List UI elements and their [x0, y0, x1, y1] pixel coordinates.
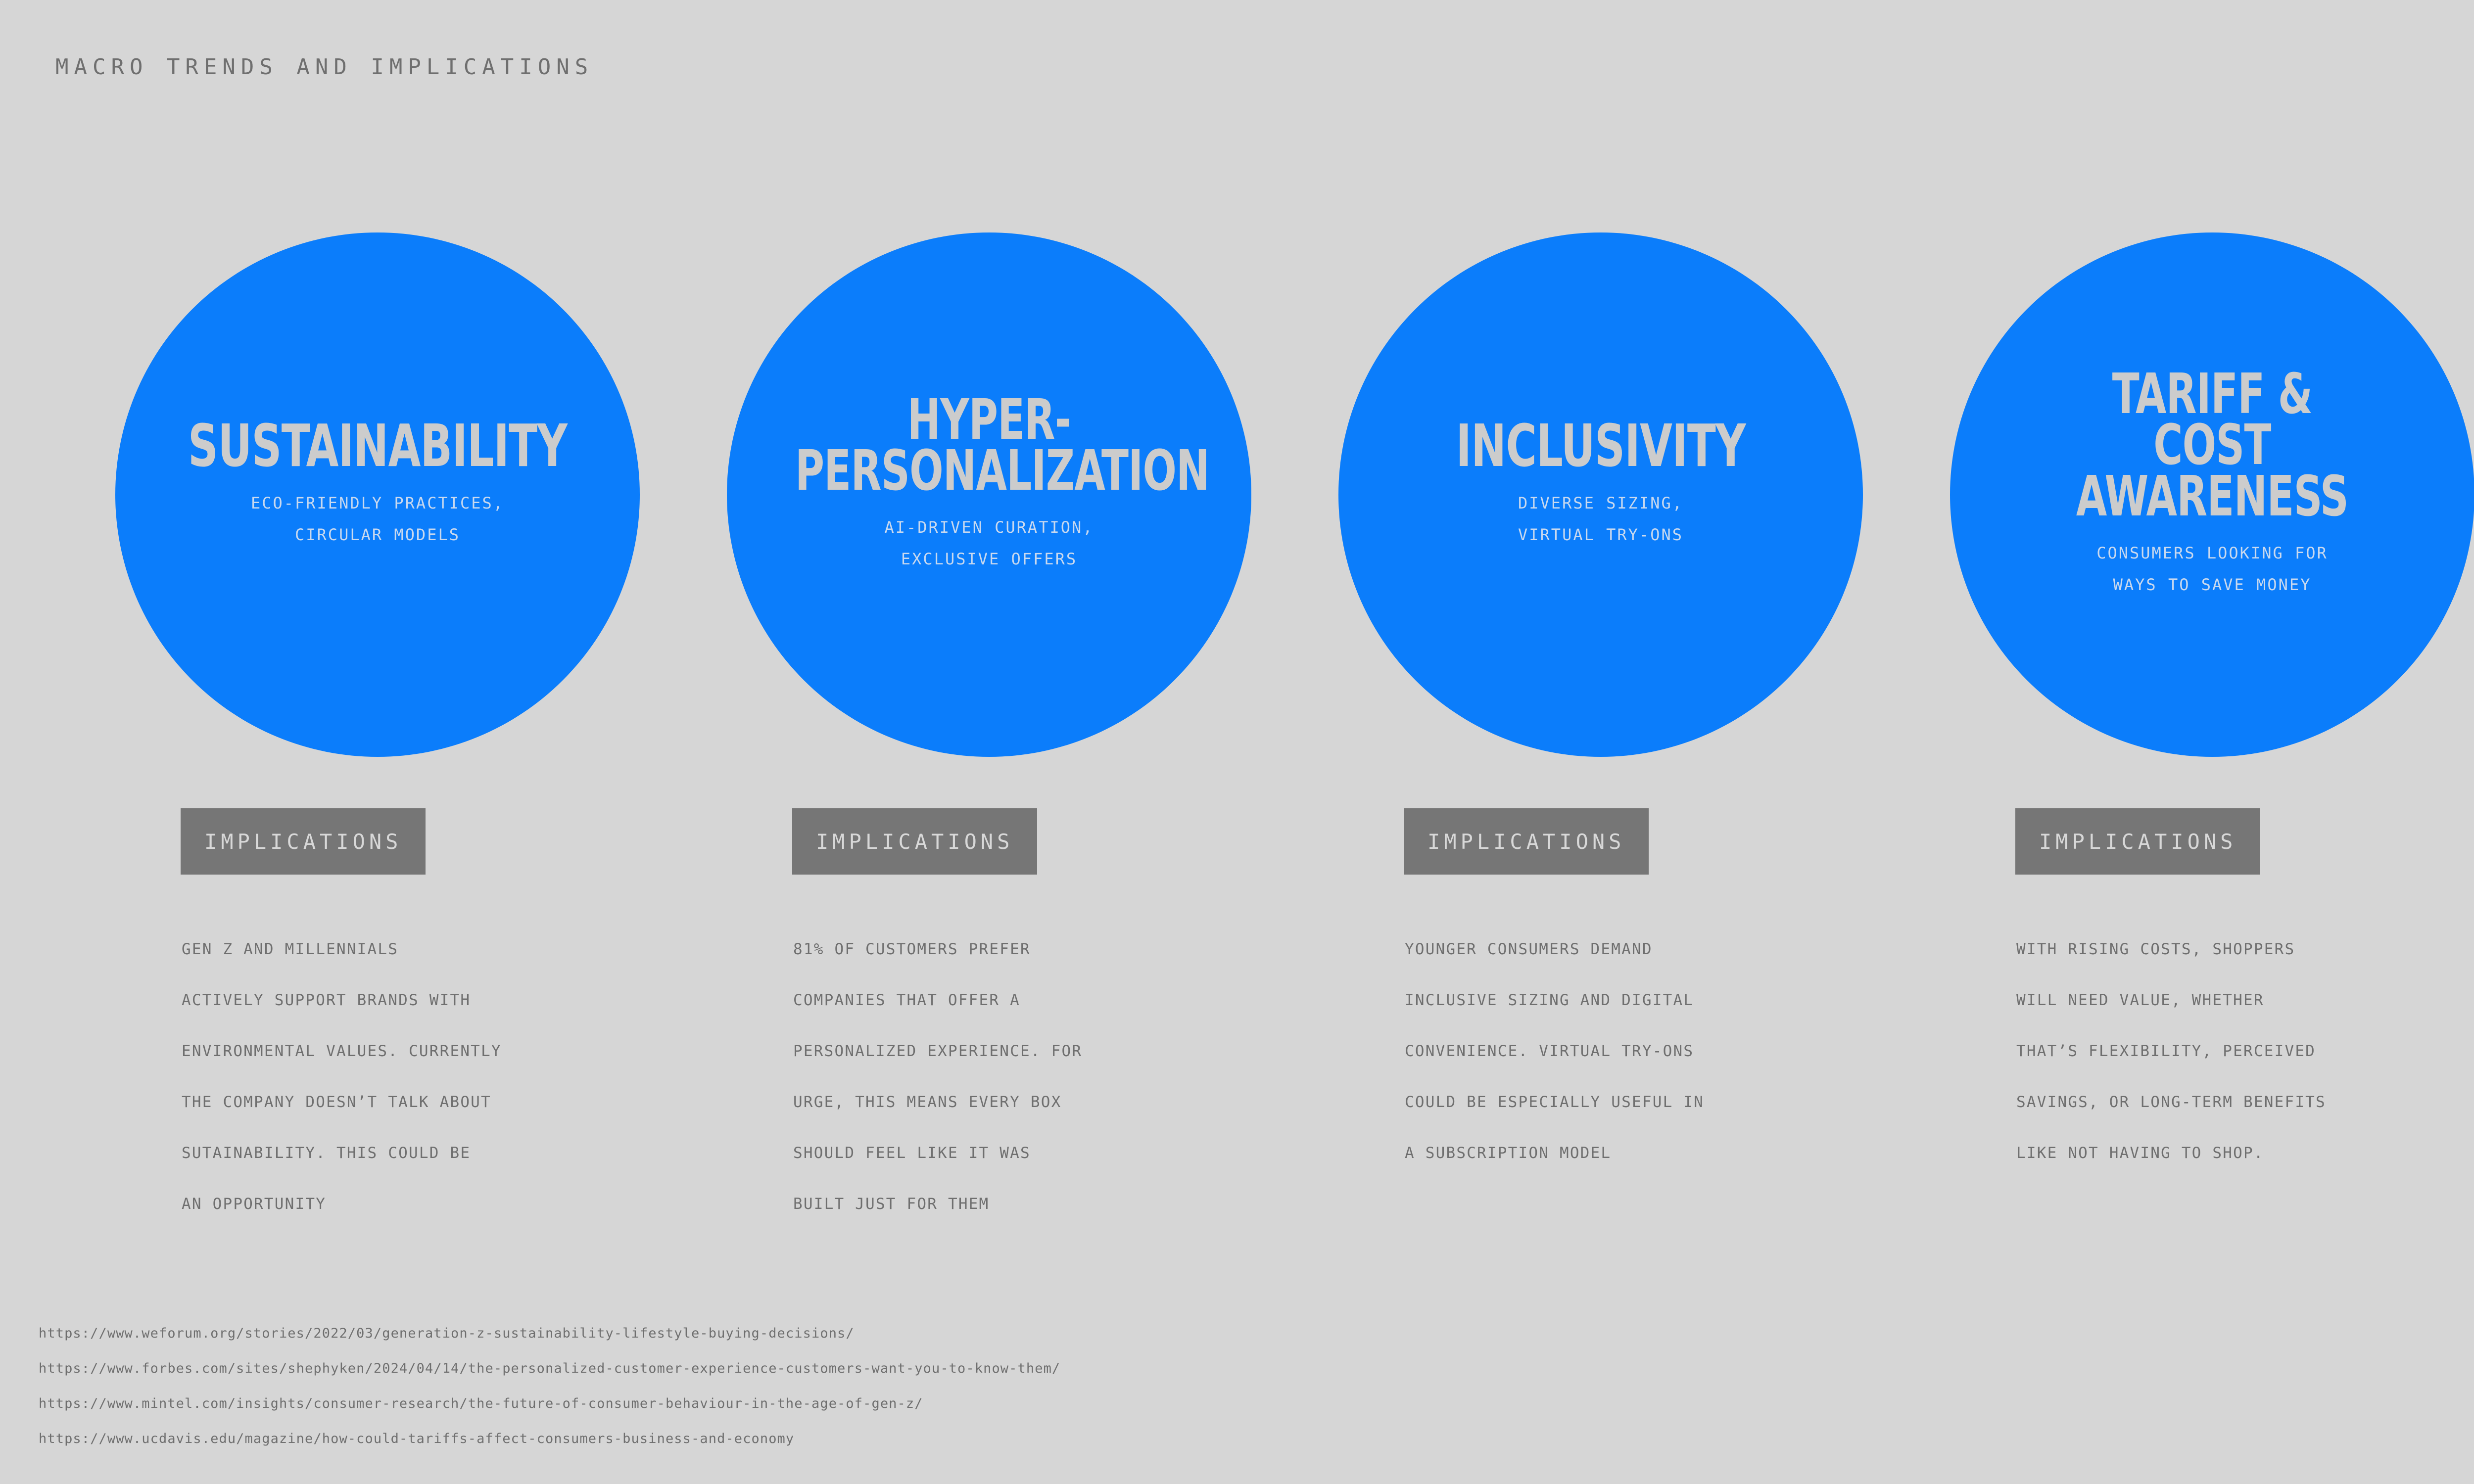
- trend-title: TARIFF & COST AWARENESS: [2018, 369, 2406, 522]
- trend-columns: SUSTAINABILITY ECO-FRIENDLY PRACTICES, C…: [0, 0, 2474, 1484]
- trend-column-tariff-cost-awareness: TARIFF & COST AWARENESS CONSUMERS LOOKIN…: [1906, 0, 2474, 1484]
- trend-column-sustainability: SUSTAINABILITY ECO-FRIENDLY PRACTICES, C…: [72, 0, 683, 1484]
- trend-subtitle: ECO-FRIENDLY PRACTICES, CIRCULAR MODELS: [135, 487, 620, 551]
- trend-circle-content: HYPER- PERSONALIZATION AI-DRIVEN CURATIO…: [747, 395, 1232, 575]
- trend-circle[interactable]: TARIFF & COST AWARENESS CONSUMERS LOOKIN…: [1950, 232, 2474, 757]
- implications-body: 81% OF CUSTOMERS PREFER COMPANIES THAT O…: [793, 924, 1332, 1230]
- source-link[interactable]: https://www.mintel.com/insights/consumer…: [39, 1386, 1060, 1421]
- implications-badge: IMPLICATIONS: [792, 808, 1037, 875]
- source-list: https://www.weforum.org/stories/2022/03/…: [39, 1316, 1060, 1456]
- implications-body: GEN Z AND MILLENNIALS ACTIVELY SUPPORT B…: [182, 924, 721, 1230]
- implications-badge-label: IMPLICATIONS: [816, 830, 1013, 854]
- implications-badge-label: IMPLICATIONS: [1427, 830, 1625, 854]
- trend-title: INCLUSIVITY: [1407, 419, 1795, 473]
- trend-circle-content: INCLUSIVITY DIVERSE SIZING, VIRTUAL TRY-…: [1358, 419, 1843, 551]
- implications-badge-label: IMPLICATIONS: [204, 830, 402, 854]
- trend-circle[interactable]: INCLUSIVITY DIVERSE SIZING, VIRTUAL TRY-…: [1338, 232, 1863, 757]
- trend-subtitle: DIVERSE SIZING, VIRTUAL TRY-ONS: [1358, 487, 1843, 551]
- trend-column-hyper-personalization: HYPER- PERSONALIZATION AI-DRIVEN CURATIO…: [683, 0, 1295, 1484]
- implications-badge: IMPLICATIONS: [2015, 808, 2260, 875]
- implications-badge: IMPLICATIONS: [1404, 808, 1649, 875]
- trend-circle[interactable]: SUSTAINABILITY ECO-FRIENDLY PRACTICES, C…: [115, 232, 640, 757]
- trend-circle[interactable]: HYPER- PERSONALIZATION AI-DRIVEN CURATIO…: [727, 232, 1251, 757]
- slide-canvas: MACRO TRENDS AND IMPLICATIONS SUSTAINABI…: [0, 0, 2474, 1484]
- source-link[interactable]: https://www.forbes.com/sites/shephyken/2…: [39, 1351, 1060, 1386]
- trend-subtitle: AI-DRIVEN CURATION, EXCLUSIVE OFFERS: [747, 511, 1232, 575]
- implications-body: YOUNGER CONSUMERS DEMAND INCLUSIVE SIZIN…: [1405, 924, 1944, 1179]
- implications-body: WITH RISING COSTS, SHOPPERS WILL NEED VA…: [2016, 924, 2474, 1179]
- trend-subtitle: CONSUMERS LOOKING FOR WAYS TO SAVE MONEY: [1970, 537, 2455, 601]
- trend-title: SUSTAINABILITY: [184, 419, 571, 473]
- trend-circle-content: TARIFF & COST AWARENESS CONSUMERS LOOKIN…: [1970, 369, 2455, 600]
- trend-title: HYPER- PERSONALIZATION: [795, 395, 1183, 497]
- source-link[interactable]: https://www.ucdavis.edu/magazine/how-cou…: [39, 1421, 1060, 1456]
- trend-column-inclusivity: INCLUSIVITY DIVERSE SIZING, VIRTUAL TRY-…: [1295, 0, 1906, 1484]
- implications-badge-label: IMPLICATIONS: [2039, 830, 2236, 854]
- source-link[interactable]: https://www.weforum.org/stories/2022/03/…: [39, 1316, 1060, 1351]
- implications-badge: IMPLICATIONS: [181, 808, 426, 875]
- trend-circle-content: SUSTAINABILITY ECO-FRIENDLY PRACTICES, C…: [135, 419, 620, 551]
